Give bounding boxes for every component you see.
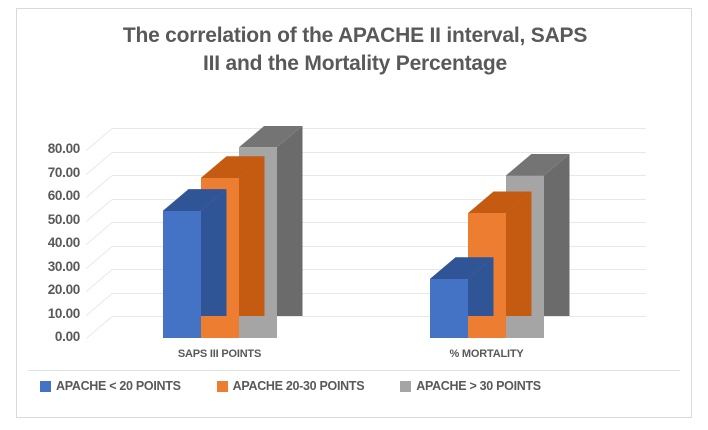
depth-line-0 xyxy=(86,316,113,339)
plot-area: SAPS III POINTS% MORTALITY xyxy=(86,128,646,338)
depth-line-30 xyxy=(86,246,113,269)
y-axis-tick-20: 20.00 xyxy=(48,282,80,297)
legend-swatch-icon xyxy=(40,381,51,392)
y-axis-tick-80: 80.00 xyxy=(48,141,80,156)
depth-line-80 xyxy=(86,128,113,151)
depth-line-20 xyxy=(86,269,113,292)
depth-line-40 xyxy=(86,222,113,245)
bar-saps-iii-points-series-1 xyxy=(163,211,201,338)
bar-front-face xyxy=(163,211,201,338)
depth-line-50 xyxy=(86,199,113,222)
y-axis-tick-70: 70.00 xyxy=(48,165,80,180)
y-axis-tick-50: 50.00 xyxy=(48,212,80,227)
legend-label: APACHE 20-30 POINTS xyxy=(233,379,365,393)
y-axis-tick-30: 30.00 xyxy=(48,259,80,274)
legend-divider xyxy=(28,370,680,371)
y-axis-tick-60: 60.00 xyxy=(48,188,80,203)
chart-title-line-2: III and the Mortality Percentage xyxy=(203,52,507,75)
bar-side-face xyxy=(239,156,265,316)
depth-line-10 xyxy=(86,293,113,316)
gridline-80 xyxy=(112,128,646,129)
x-axis-label-1: SAPS III POINTS xyxy=(123,348,317,360)
chart-title-line-1: The correlation of the APACHE II interva… xyxy=(123,24,587,47)
legend-item-2[interactable]: APACHE 20-30 POINTS xyxy=(217,379,365,393)
depth-line-60 xyxy=(86,175,113,198)
chart-container: The correlation of the APACHE II interva… xyxy=(0,0,708,430)
bar-side-face xyxy=(277,126,303,316)
bar-side-face xyxy=(544,154,570,316)
legend-label: APACHE < 20 POINTS xyxy=(56,379,181,393)
chart-legend: APACHE < 20 POINTSAPACHE 20-30 POINTSAPA… xyxy=(40,379,660,393)
depth-line-70 xyxy=(86,152,113,175)
legend-swatch-icon xyxy=(400,381,411,392)
bar--mortality-series-1 xyxy=(430,279,468,338)
y-axis-tick-0: 0.00 xyxy=(55,329,80,344)
y-axis-tick-10: 10.00 xyxy=(48,306,80,321)
y-axis-tick-40: 40.00 xyxy=(48,235,80,250)
legend-label: APACHE > 30 POINTS xyxy=(416,379,541,393)
gridline-70 xyxy=(112,152,646,153)
bar-front-face xyxy=(430,279,468,338)
x-axis-label-2: % MORTALITY xyxy=(390,348,584,360)
chart-title: The correlation of the APACHE II interva… xyxy=(60,22,650,77)
y-axis-labels: 80.0070.0060.0050.0040.0030.0020.0010.00… xyxy=(14,128,80,338)
legend-item-3[interactable]: APACHE > 30 POINTS xyxy=(400,379,541,393)
legend-swatch-icon xyxy=(217,381,228,392)
legend-item-1[interactable]: APACHE < 20 POINTS xyxy=(40,379,181,393)
bar-side-face xyxy=(201,189,227,316)
